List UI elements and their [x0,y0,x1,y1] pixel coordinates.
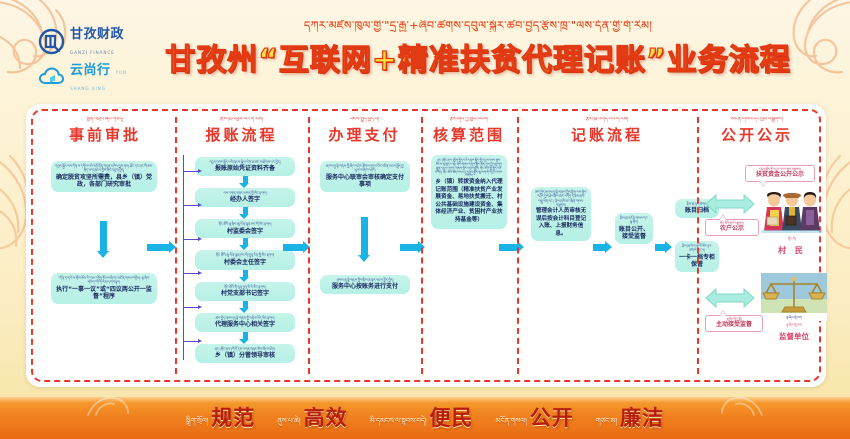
flow-box: རྩིས་ཁྲ་མངོན་གསལ་དང་ལྟ་ཞིབ། 账目公开、接受监督 [615,213,653,244]
slogan-tibetan: ནུས་པ་ཆེ། [277,418,300,429]
arrow-right-icon [655,241,672,253]
double-arrow-icon [705,287,755,313]
flow-board: སྔོན་འགྲོའི་ཞིབ་གཅོད། 事前审批 དབུལ་སྐྱོར་ལས… [26,104,826,387]
column-header-pre-approval: སྔོན་འགྲོའི་ཞིབ་གཅོད། 事前审批 [35,117,175,145]
disclosure-item-supervision: ལྟ་ཞིབ་སྡེ་ཁག ལྟ་ཞིབ་སྡེ་ཁག 监督单位 ལྟ་ཞིབ་… [705,273,850,363]
column-bookkeeping: རྩིས་ཁྲ་འགོད་པའི་གོ་རིམ། 记账流程 ཚབ་བྱེད་ཞབ… [517,113,697,378]
supervision-caption: ལྟ་ཞིབ་སྡེ་ཁག 监督单位 [761,321,827,342]
column-header-label: 核算范围 [421,124,517,145]
flow-box-label: 代理服务中心相关签字 [199,321,291,329]
flow-columns: སྔོན་འགྲོའི་ཞིབ་གཅོད། 事前审批 དབུལ་སྐྱོར་ལས… [35,113,817,378]
balance-scale-illustration: ལྟ་ཞིབ་སྡེ་ཁག [761,273,827,325]
column-header-tibetan: རྩིས་ཁྲ་འབུལ་བའི་གོ་རིམ། [175,117,308,123]
column-header-payment: འཇལ་སྤྲོད་བྱེད་པ། 办理支付 [308,117,421,145]
flow-box-label: 执行“一事一议”或“四议两公开一监督”程序 [55,286,153,302]
flow-box-tibetan: རྩིས་ཁྲ་མངོན་གསལ་དང་ལྟ་ཞིབ། [619,216,649,225]
flow-box-label: 经办人签字 [199,196,291,204]
slogan-tibetan: གཙང་མ། [596,418,617,429]
logo-ganzi-finance-label: 甘孜财政 [70,27,124,42]
double-arrow-icon [705,193,755,219]
slogan-label: 高效 [304,408,348,429]
flow-box-tibetan: གྲོང་ཚོའི་ལྟ་ཞིབ་ཨུ་ཡོན་ལྷན་ཁང་གི་མིང་རྟ… [199,222,291,226]
logo-yunshangxing: 云尚行 YUN SHANG XING [38,62,146,92]
flow-box-tibetan: དངུལ་འབབ་སྤྱོད་པའི་ཁུངས་སྐྱེལ་ཡིག་ཆ་ཚང་མ… [199,160,291,164]
column-accounting-scope: རྩིས་ཞིབ་ཀྱི་ཁྱབ་ཁོངས། 核算范围 ཤང་(གྲོང་རྡལ… [421,113,517,378]
connector-spine [183,155,184,360]
logo-ganzi-finance-en: GANZI FINANCE [70,50,115,55]
flow-box: ཚབ་བྱེད་ཞབས་ཞུ་ལྟེ་གནས་ཀྱིས་རྩིས་པས་ཞིབ་… [531,187,591,241]
column-pre-approval: སྔོན་འགྲོའི་ཞིབ་གཅོད། 事前审批 དབུལ་སྐྱོར་ལས… [35,113,175,378]
flow-box-tibetan: ཚབ་བྱེད་ཞབས་ཞུ་ལྟེ་གནས་ཀྱིས་རྩིས་པས་ཞིབ་… [535,190,587,207]
flow-box-tibetan: ལས་འགན་འཁུར་མཁན་གྱི་མིང་རྟགས། [199,191,291,195]
flow-box-label: 管理会计人员审核无误后按会计科目登记入账、上报财务信息。 [535,208,587,238]
flow-box-label: 乡（镇）转拨资金纳入代理记账范围（精准扶贫产业发展资金、易地扶贫搬迁、村公共基础… [435,179,503,224]
flow-box-label: 村委会主任签字 [199,259,291,267]
flow-box-label: 账目公开、接受监督 [619,226,649,242]
slogan-label: 规范 [211,408,255,429]
flow-box-tibetan: ཤང་(གྲོང་རྡལ་)གི་དོ་དམ་འགན་འཁུར་མིས་ཞིབ་… [199,347,291,351]
flow-box: ཞབས་ཞུ་ལྟེ་གནས་ཀྱི་ཞིབ་བཤེར་ཚོགས་འདུས་ངོ… [320,161,410,192]
column-header-label: 公开公示 [697,124,817,145]
slogan-tibetan: མངོན་གསལ། [496,418,527,429]
column-header-reimbursement: རྩིས་ཁྲ་འབུལ་བའི་གོ་རིམ། 报账流程 [175,117,308,145]
flow-box-label: 村监委会签字 [199,228,291,236]
flow-box: ལས་འགན་འཁུར་མཁན་གྱི་མིང་རྟགས། 经办人签字 [195,188,295,207]
flow-box: ཤང་(གྲོང་རྡལ་)གི་དོ་དམ་འགན་འཁུར་མིས་ཞིབ་… [195,344,295,363]
column-header-tibetan: རྩིས་ཁྲ་འགོད་པའི་གོ་རིམ། [517,117,697,123]
cloud-logo-icon [38,64,65,91]
header: 甘孜财政 GANZI FINANCE 云尚行 YUN SHANG XING ད [0,0,850,100]
arrow-right-icon [593,241,612,253]
slogan-item: སྒྲིག་སྲོལ། 规范 [186,408,255,429]
tibetan-title: དཀར་མཛེས་ཁུལ་གྱི་"དྲ་རྒྱ་+ཞིབ་ཚགས་དབུལ་ས… [148,20,808,32]
flow-box: ཤང་(གྲོང་རྡལ་)གྱིས་སྤྲོད་པའི་དབུལ་སྐྱོར་… [431,155,507,229]
flow-box: "དོན་དག་རེ་ལ་གྲོས་མོལ་རེ"འམ་"གྲོས་མོལ་བཞ… [51,273,157,304]
column-header-accounting-scope: རྩིས་ཞིབ་ཀྱི་ཁྱབ་ཁོངས། 核算范围 [421,117,517,145]
flow-box: ཞབས་ཞུ་ལྟེ་གནས་ཀྱིས་རྩིས་ཁྲ་ལྟར་འཇལ་སྤྲོ… [320,275,410,294]
logo-group: 甘孜财政 GANZI FINANCE 云尚行 YUN SHANG XING [38,26,146,92]
column-public-disclosure: མངོན་གསལ་དང་ཁྱབ་བསྒྲགས། 公开公示 དབུལ་སྐྱོར་… [697,113,817,378]
slogan-label: 公开 [530,408,574,429]
flow-box-label: 服务中心按账务进行支付 [324,283,406,291]
arrow-right-icon [283,241,310,253]
column-header-public-disclosure: མངོན་གསལ་དང་ཁྱབ་བསྒྲགས། 公开公示 [697,117,817,145]
slogan-item: མངོན་གསལ། 公开 [496,408,574,429]
slogan-tibetan: སྒྲིག་སྲོལ། [186,418,208,429]
bottom-banner: སྒྲིག་སྲོལ། 规范 ནུས་པ་ཆེ། 高效 མི་དམངས་ལ་སྟ… [0,397,850,439]
slogan-item: མི་དམངས་ལ་སྟབས་བདེ། 便民 [370,408,474,429]
column-header-bookkeeping: རྩིས་ཁྲ་འགོད་པའི་གོ་རིམ། 记账流程 [517,117,697,145]
flow-box-tibetan: དབུལ་སྐྱོར་ལས་དོན་ལ་དགོས་པའི་འགྲོ་གྲོན་ག… [55,164,153,173]
title-block: དཀར་མཛེས་ཁུལ་གྱི་"དྲ་རྒྱ་+ཞིབ་ཚགས་དབུལ་ས… [148,20,808,79]
flow-box-tibetan: ཞབས་ཞུ་ལྟེ་གནས་ཀྱིས་རྩིས་ཁྲ་ལྟར་འཇལ་སྤྲོ… [324,278,406,282]
flow-box: གྲོང་ཚོའི་ལྟ་ཞིབ་ཨུ་ཡོན་ལྷན་ཁང་གི་མིང་རྟ… [195,219,295,238]
logo-ganzi-finance: 甘孜财政 GANZI FINANCE [38,26,146,56]
flow-box: དབུལ་སྐྱོར་ལས་དོན་ལ་དགོས་པའི་འགྲོ་གྲོན་ག… [51,161,157,192]
flow-box-label: 确定脱贫攻坚所需费，县乡（镇）党政，各部门研究审批 [55,174,153,190]
flow-box: གྲོང་ཚོའི་ཀྲི་པུའུ་ཧྲུའུ་ཅི་ཡི་མིང་རྟགས།… [195,282,295,301]
disclosure-item-villagers: དབུལ་སྐྱོར་གྱི་དངུལ་འབབ་ཁྱབ་བསྒྲགས། 扶贫资金… [705,165,850,255]
villagers-illustration [761,191,823,239]
column-payment: འཇལ་སྤྲོད་བྱེད་པ། 办理支付 ཞབས་ཞུ་ལྟེ་གནས་ཀྱ… [308,113,421,378]
flow-box: དངུལ་འབབ་སྤྱོད་པའི་ཁུངས་སྐྱེལ་ཡིག་ཆ་ཚང་མ… [195,157,295,176]
column-header-tibetan: འཇལ་སྤྲོད་བྱེད་པ། [308,117,421,123]
flow-box-tibetan: ཤང་(གྲོང་རྡལ་)གྱིས་སྤྲོད་པའི་དབུལ་སྐྱོར་… [435,159,503,178]
column-header-label: 记账流程 [517,124,697,145]
column-header-tibetan: མངོན་གསལ་དང་ཁྱབ་བསྒྲགས། [697,117,817,123]
column-header-tibetan: རྩིས་ཞིབ་ཀྱི་ཁྱབ་ཁོངས། [421,117,517,123]
flow-box: གྲོང་ཚོའི་ཨུ་ཡོན་ལྷན་ཁང་གི་ཀྲུའུ་རེན་གྱི… [195,250,295,269]
ganzi-finance-logo-icon [38,28,65,55]
flow-box-tibetan: ཚབ་བྱེད་ཞབས་ཞུ་ལྟེ་གནས་ཀྱི་འབྲེལ་ཡོད་མིང… [199,316,291,320]
arrow-right-icon [147,241,176,253]
banner-swirl-right-icon [718,393,764,421]
flow-box-tibetan: གྲོང་ཚོའི་ཨུ་ཡོན་ལྷན་ཁང་གི་ཀྲུའུ་རེན་གྱི… [199,253,291,257]
slogan-label: 廉洁 [620,408,664,429]
slogan-item: གཙང་མ། 廉洁 [596,408,664,429]
callout-fund-disclosure: དབུལ་སྐྱོར་གྱི་དངུལ་འབབ་ཁྱབ་བསྒྲགས། 扶贫资金… [745,165,815,182]
logo-yunshangxing-label: 云尚行 [70,63,111,78]
column-header-label: 报账流程 [175,124,308,145]
flow-box-tibetan: ཞབས་ཞུ་ལྟེ་གནས་ཀྱི་ཞིབ་བཤེར་ཚོགས་འདུས་ངོ… [324,164,406,173]
slogan-label: 便民 [430,408,474,429]
flow-box: ཚབ་བྱེད་ཞབས་ཞུ་ལྟེ་གནས་ཀྱི་འབྲེལ་ཡོད་མིང… [195,313,295,332]
banner-swirl-left-icon [86,393,132,421]
label-household-disclosure: གྲོང་ཚོའི་ཁྱབ་བསྒྲགས། 农户公示 [705,219,759,236]
flow-box-label: 报账原始凭证资料齐备 [199,165,291,173]
flow-box-label: 服务中心联审会审核确定支付事项 [324,174,406,190]
arrow-down-icon [358,217,371,262]
slogan-item: ནུས་པ་ཆེ། 高效 [277,408,347,429]
arrow-down-icon [97,221,110,258]
column-header-tibetan: སྔོན་འགྲོའི་ཞིབ་གཅོད། [35,117,175,123]
page-title: 甘孜州“互联网+精准扶贫代理记账”业务流程 [148,35,808,79]
label-accept-supervision: ལྟ་ཞིབ་བྱེད་སྒོ། 主动接受监督 [705,315,763,332]
villagers-caption: གྲོང་མི། 村 民 [761,235,823,256]
flow-box-label: 村党支部书记签字 [199,290,291,298]
poster-root: 甘孜财政 GANZI FINANCE 云尚行 YUN SHANG XING ད [0,0,850,439]
column-header-label: 事前审批 [35,124,175,145]
flow-box-tibetan: "དོན་དག་རེ་ལ་གྲོས་མོལ་རེ"འམ་"གྲོས་མོལ་བཞ… [55,276,153,285]
flow-box-tibetan: གྲོང་ཚོའི་ཀྲི་པུའུ་ཧྲུའུ་ཅི་ཡི་མིང་རྟགས། [199,285,291,289]
slogan-tibetan: མི་དམངས་ལ་སྟབས་བདེ། [370,418,427,429]
column-reimbursement: རྩིས་ཁྲ་འབུལ་བའི་གོ་རིམ། 报账流程 དངུལ་འབབ་ས… [175,113,308,378]
column-header-label: 办理支付 [308,124,421,145]
flow-box-label: 乡（镇）分管领导审核 [199,352,291,360]
